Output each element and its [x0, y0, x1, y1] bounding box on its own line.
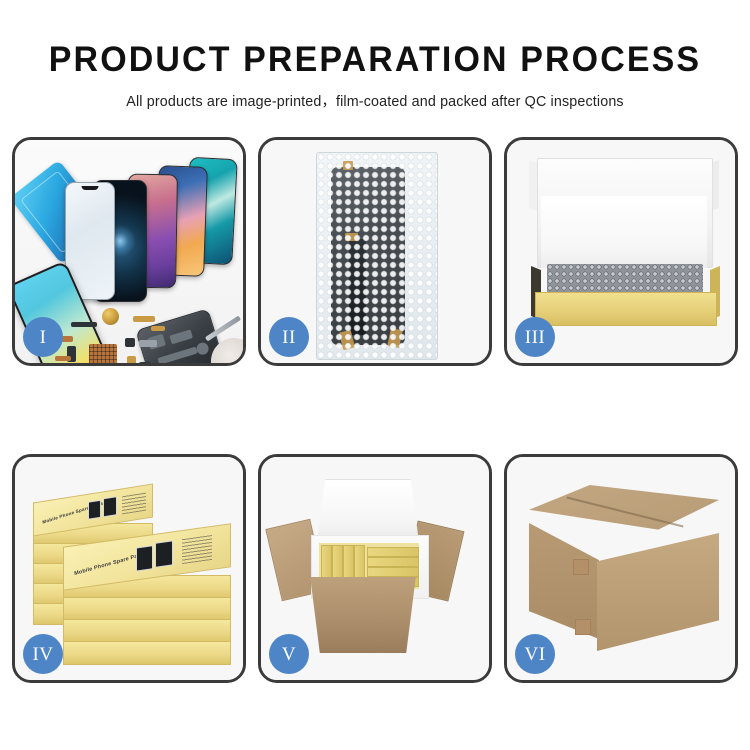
step-badge-5: V	[269, 634, 309, 674]
process-step-panel-5: V	[258, 454, 492, 683]
styrofoam-lid	[317, 479, 419, 543]
step-badge-label: I	[40, 328, 47, 347]
process-step-panel-3: III	[504, 137, 738, 366]
step-badge-label: IV	[32, 645, 53, 664]
bubble-wrap-bag	[316, 152, 438, 360]
step-badge-1: I	[23, 317, 63, 357]
logic-board-part	[89, 344, 117, 366]
carton-right-face	[597, 533, 719, 651]
carton-top-face	[529, 485, 719, 547]
step-badge-4: IV	[23, 634, 63, 674]
flex-cable	[349, 239, 366, 335]
product-preparation-process-infographic: PRODUCT PREPARATION PROCESS All products…	[0, 0, 750, 750]
process-step-grid: I II	[12, 137, 738, 683]
step-badge-label: III	[525, 328, 545, 347]
carton-body	[303, 577, 423, 653]
speaker-coin-part	[102, 308, 119, 325]
sealed-carton	[529, 485, 719, 653]
page-subtitle: All products are image-printed，film-coat…	[0, 79, 750, 111]
step-badge-3: III	[515, 317, 555, 357]
foam-sheet	[541, 196, 707, 268]
process-step-panel-6: VI	[504, 454, 738, 683]
header: PRODUCT PREPARATION PROCESS All products…	[0, 0, 750, 111]
wrapped-phone-screen	[331, 167, 405, 345]
process-step-panel-4: Mobile Phone Spare Parts Mobile Phone Sp…	[12, 454, 246, 683]
retail-box-label: Mobile Phone Spare Parts	[74, 551, 145, 577]
page-title: PRODUCT PREPARATION PROCESS	[11, 0, 739, 79]
process-step-panel-1: I	[12, 137, 246, 366]
step-badge-label: V	[282, 645, 296, 664]
process-step-panel-2: II	[258, 137, 492, 366]
step-badge-2: II	[269, 317, 309, 357]
box-stack: Mobile Phone Spare Parts Mobile Phone Sp…	[33, 477, 231, 667]
step-badge-6: VI	[515, 634, 555, 674]
step-badge-label: VI	[524, 645, 545, 664]
hand-icon	[207, 334, 246, 366]
step-badge-label: II	[282, 328, 296, 347]
box-front-wall	[535, 292, 717, 326]
